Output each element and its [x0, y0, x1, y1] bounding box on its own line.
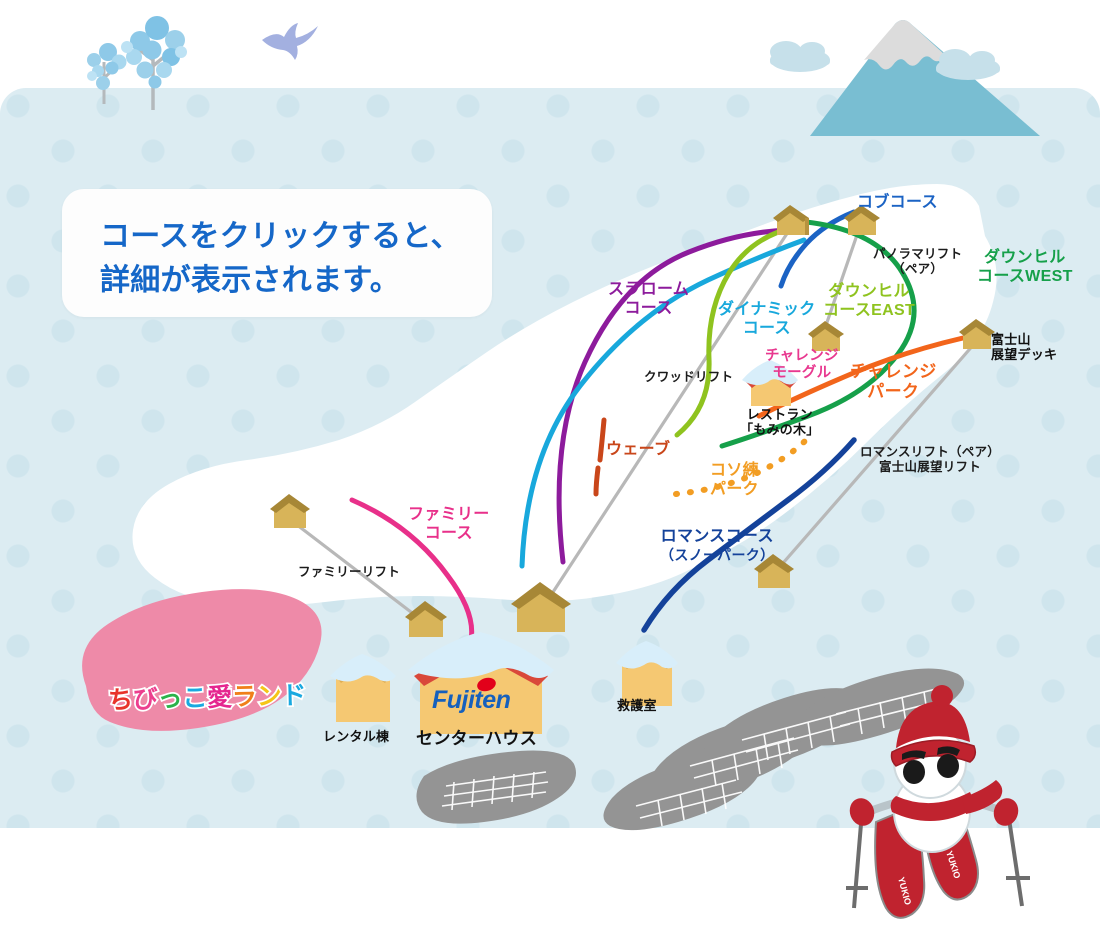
- course-label-downhill-west-line2: コースWEST: [977, 268, 1073, 287]
- facility-label-rental-text: レンタル棟: [323, 729, 389, 744]
- callout-line-1: コースをクリックすると、: [100, 215, 461, 259]
- facility-label-restaurant: レストラン 「もみの木」: [740, 407, 820, 438]
- course-label-slalom[interactable]: スラローム コース: [608, 281, 689, 319]
- lift-label-quad: クワッドリフト: [644, 370, 733, 385]
- course-label-downhill-west[interactable]: ダウンヒル コースWEST: [977, 249, 1073, 287]
- facility-label-first-aid: 救護室: [617, 698, 657, 713]
- course-label-challenge-park-line1: チャレンジ: [850, 362, 937, 382]
- lift-station-icon: [773, 205, 809, 235]
- course-label-challenge-mogul-line1: チャレンジ: [765, 348, 839, 365]
- lift-label-romance: ロマンスリフト（ペア） 富士山展望リフト: [860, 445, 1000, 475]
- callout-text: コースをクリックすると、 詳細が表示されます。: [100, 215, 461, 302]
- lift-label-panorama-line2: （ペア）: [873, 262, 962, 277]
- course-label-family-line2: コース: [408, 525, 490, 544]
- course-label-dynamic[interactable]: ダイナミック コース: [718, 301, 816, 339]
- course-label-downhill-east-line1: ダウンヒル: [823, 283, 915, 302]
- facility-label-center-house-text: センターハウス: [416, 729, 537, 749]
- kids-land-char: 愛: [207, 677, 233, 714]
- course-label-kobu-line1: コブコース: [857, 194, 938, 213]
- course-label-challenge-park[interactable]: チャレンジ パーク: [850, 362, 937, 402]
- course-label-dynamic-line2: コース: [718, 320, 816, 339]
- kids-land-char: こ: [182, 678, 208, 715]
- course-label-downhill-east[interactable]: ダウンヒル コースEAST: [823, 283, 915, 321]
- course-label-slalom-line1: スラローム: [608, 281, 689, 300]
- lift-label-romance-line1: ロマンスリフト（ペア）: [860, 445, 1000, 460]
- course-label-koso-park[interactable]: コソ練 パーク: [710, 462, 759, 500]
- course-label-wave[interactable]: ウェーブ: [606, 441, 670, 460]
- kids-land-char: っ: [157, 679, 183, 716]
- lift-label-family: ファミリーリフト: [298, 565, 400, 580]
- facility-label-observation-line2: 展望デッキ: [991, 347, 1057, 362]
- course-label-romance[interactable]: ロマンスコース （スノーパーク）: [660, 528, 774, 563]
- course-label-kobu[interactable]: コブコース: [857, 194, 938, 213]
- kids-land-logo[interactable]: ちびっこ愛ランド: [108, 675, 307, 716]
- callout-line-2: 詳細が表示されます。: [100, 259, 461, 303]
- course-label-dynamic-line1: ダイナミック: [718, 301, 816, 320]
- lift-label-family-text: ファミリーリフト: [298, 565, 400, 580]
- facility-label-rental: レンタル棟: [323, 729, 389, 744]
- kids-land-char: ち: [108, 680, 134, 717]
- lift-label-romance-line2: 富士山展望リフト: [860, 460, 1000, 475]
- course-label-family[interactable]: ファミリー コース: [408, 506, 490, 544]
- course-label-challenge-mogul[interactable]: チャレンジ モーグル: [765, 348, 839, 382]
- course-label-challenge-park-line2: パーク: [850, 382, 937, 402]
- course-label-challenge-mogul-line2: モーグル: [765, 365, 839, 382]
- kids-land-char: ン: [256, 676, 282, 713]
- facility-label-center-house: センターハウス: [416, 729, 537, 749]
- lift-label-panorama: パノラマリフト （ペア）: [873, 247, 962, 277]
- course-label-slalom-line2: コース: [608, 300, 689, 319]
- instruction-callout: コースをクリックすると、 詳細が表示されます。: [62, 189, 492, 317]
- facility-label-restaurant-line1: レストラン: [740, 407, 820, 422]
- course-label-koso-park-line2: パーク: [710, 481, 759, 500]
- course-label-romance-line2: （スノーパーク）: [660, 547, 774, 564]
- course-label-wave-line1: ウェーブ: [606, 441, 670, 460]
- facility-label-observation-deck: 富士山 展望デッキ: [991, 332, 1057, 363]
- course-label-romance-line1: ロマンスコース: [660, 528, 774, 547]
- facility-label-first-aid-text: 救護室: [617, 698, 657, 713]
- first-aid-building-icon: [616, 641, 678, 706]
- course-label-downhill-west-line1: ダウンヒル: [977, 249, 1073, 268]
- lift-label-panorama-line1: パノラマリフト: [873, 247, 962, 262]
- facility-label-observation-line1: 富士山: [991, 332, 1057, 347]
- kids-land-char: ド: [281, 675, 307, 712]
- lift-label-quad-text: クワッドリフト: [644, 370, 733, 385]
- course-label-koso-park-line1: コソ練: [710, 462, 759, 481]
- course-label-family-line1: ファミリー: [408, 506, 490, 525]
- fujiten-logo: Fujiten: [432, 686, 510, 715]
- kids-land-char: ラ: [231, 677, 257, 714]
- lift-station-icon: [405, 601, 447, 637]
- facility-label-restaurant-line2: 「もみの木」: [740, 422, 820, 437]
- rental-building-icon: [330, 654, 396, 722]
- course-label-downhill-east-line2: コースEAST: [823, 302, 915, 321]
- kids-land-char: び: [132, 679, 158, 716]
- course-map-canvas: YUKIO YUKIO: [0, 0, 1100, 930]
